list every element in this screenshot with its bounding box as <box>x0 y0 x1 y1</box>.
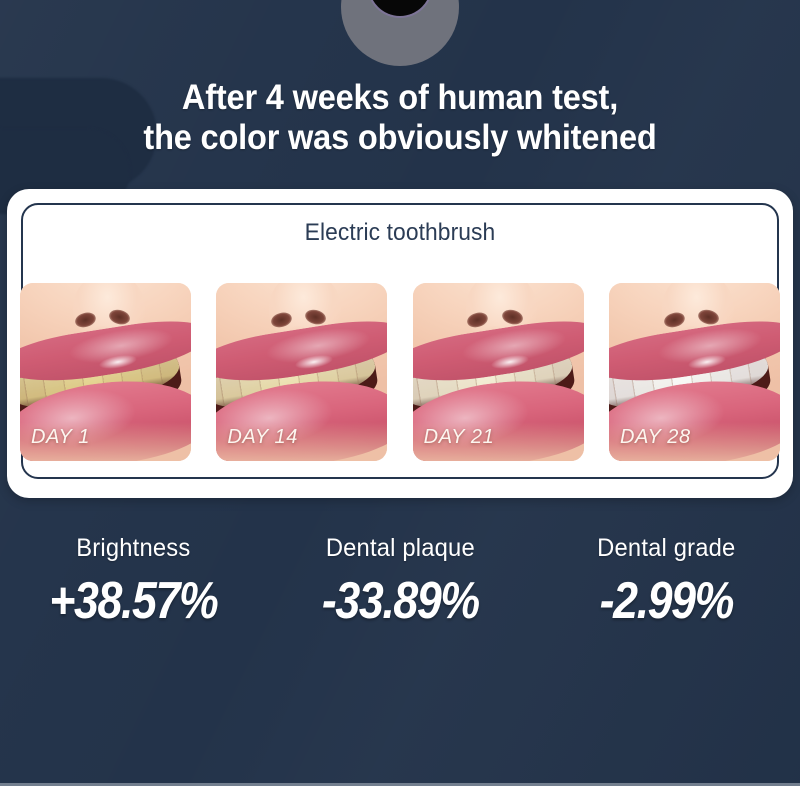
photo-day-label: DAY 21 <box>424 426 495 449</box>
statistic-label: Dental grade <box>540 534 793 563</box>
bottom-strip <box>0 786 800 800</box>
photo-day-label: DAY 1 <box>31 426 90 449</box>
statistic-value: -33.89% <box>285 571 514 631</box>
progress-photo: DAY 28 <box>609 283 780 461</box>
statistic-value: -2.99% <box>552 571 781 631</box>
card-title: Electric toothbrush <box>27 219 774 247</box>
progress-photo: DAY 14 <box>216 283 387 461</box>
statistics-row: Brightness+38.57%Dental plaque-33.89%Den… <box>0 534 800 631</box>
photo-day-label: DAY 28 <box>620 426 691 449</box>
page-title-line-1: After 4 weeks of human test, <box>28 78 772 118</box>
progress-photo: DAY 1 <box>20 283 191 461</box>
photo-day-label: DAY 14 <box>227 426 298 449</box>
page-title: After 4 weeks of human test, the color w… <box>28 78 772 158</box>
statistic-label: Brightness <box>7 534 260 563</box>
statistic-item: Brightness+38.57% <box>0 534 267 631</box>
statistic-label: Dental plaque <box>273 534 526 563</box>
progress-photo-strip: DAY 1DAY 14DAY 21DAY 28 <box>20 283 780 461</box>
page-title-line-2: the color was obviously whitened <box>28 118 772 158</box>
statistic-item: Dental grade-2.99% <box>533 534 800 631</box>
progress-photo: DAY 21 <box>413 283 584 461</box>
poster-root: After 4 weeks of human test, the color w… <box>0 0 800 800</box>
statistic-value: +38.57% <box>19 571 248 631</box>
statistic-item: Dental plaque-33.89% <box>267 534 534 631</box>
results-card: Electric toothbrush DAY 1DAY 14DAY 21DAY… <box>7 189 793 498</box>
